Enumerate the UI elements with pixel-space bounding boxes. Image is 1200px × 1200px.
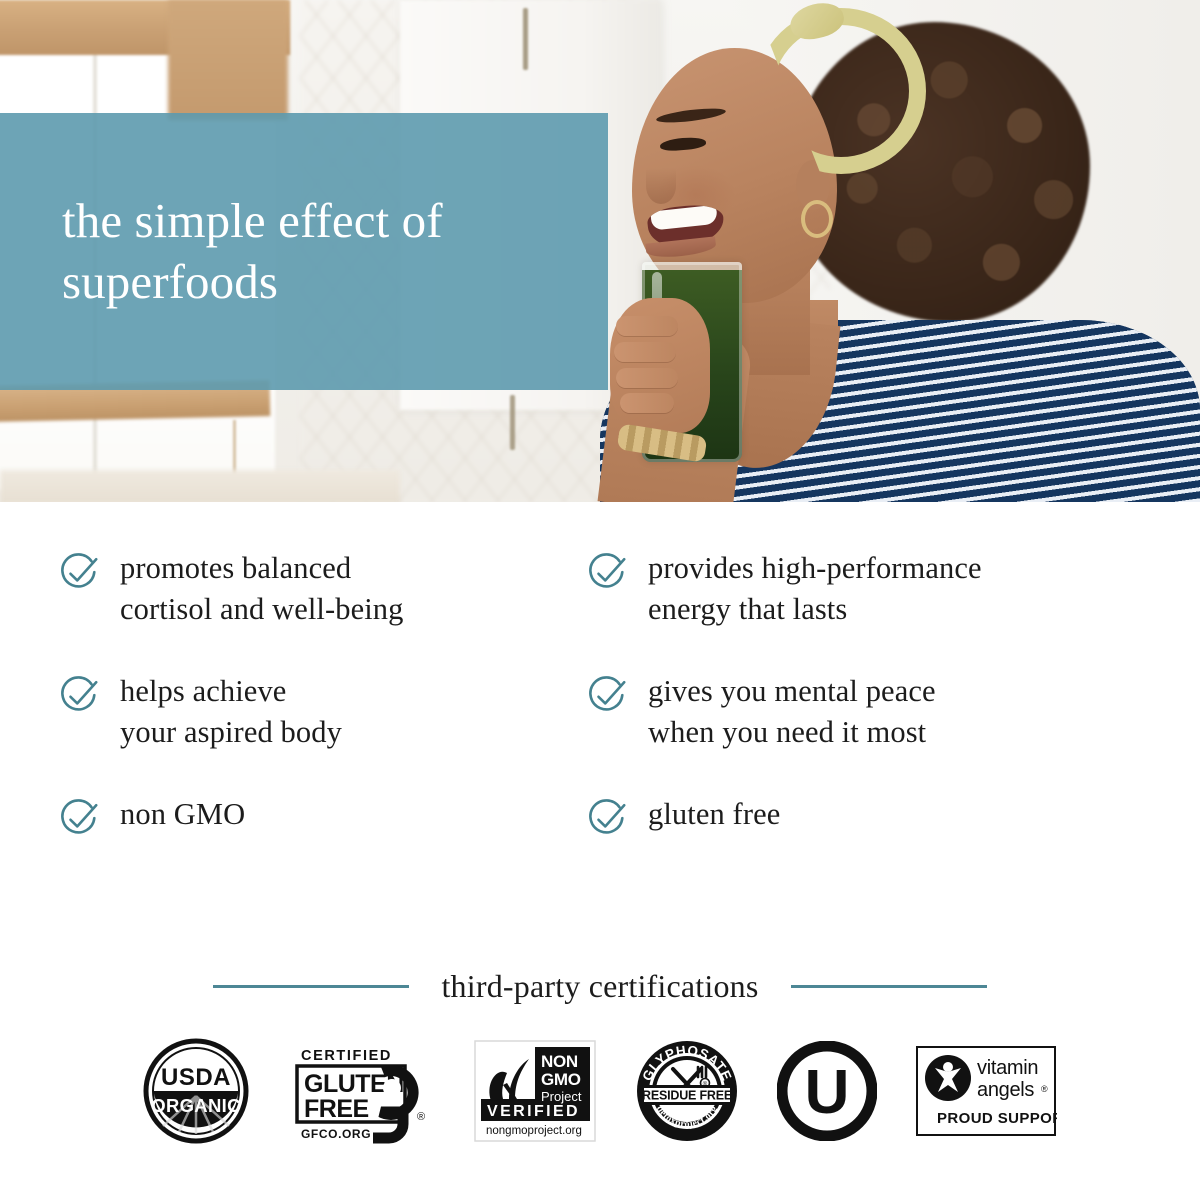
nose [646,168,676,204]
benefit-item-non-gmo: non GMO [58,794,586,845]
vitamin-angels-badge: vitamin angels ® PROUD SUPPORTER [915,1045,1057,1142]
benefit-label: provides high-performance energy that la… [648,548,982,629]
gf-line2: FREE [304,1095,369,1123]
counter-top [0,470,400,502]
benefit-item-mental: gives you mental peace when you need it … [586,671,1158,752]
certification-badges: USDA ORGANIC CERTIFIED GLUTEN FREE ® GFC… [0,1038,1200,1149]
benefit-item-gluten-free: gluten free [586,794,1158,845]
va-registered: ® [1041,1084,1048,1094]
benefit-label: non GMO [120,794,245,835]
check-circle-icon [58,675,100,722]
benefits-list: promotes balanced cortisol and well-bein… [0,548,1200,845]
divider-left [213,985,409,988]
check-circle-icon [586,798,628,845]
nongmo-url: nongmoproject.org [486,1125,582,1137]
check-circle-icon [586,552,628,599]
headline-panel: the simple effect of superfoods [0,113,608,390]
nongmo-line1: NON [541,1052,578,1071]
certified-gluten-free-badge: CERTIFIED GLUTEN FREE ® GFCO.ORG [287,1038,435,1149]
woven-shade-top-right [168,0,288,120]
gf-registered: ® [417,1111,425,1123]
va-tagline: PROUD SUPPORTER [937,1110,1057,1127]
woman-figure [560,0,1200,502]
va-line2: angels [977,1079,1034,1101]
check-circle-icon [586,675,628,722]
benefit-item-body: helps achieve your aspired body [58,671,586,752]
glyphosate-residue-free-badge: ® RESIDUE FREE GLYPHOSATE detoxproject.o… [635,1039,739,1148]
non-gmo-project-verified-badge: NON GMO Project VERIFIED nongmoproject.o… [473,1039,597,1148]
finger [616,368,678,388]
finger [614,342,676,362]
ou-kosher-badge: U [777,1041,877,1146]
divider-right [791,985,987,988]
cabinet-handle-lower-icon [510,395,515,450]
usda-line1: USDA [161,1064,231,1091]
benefit-item-energy: provides high-performance energy that la… [586,548,1158,629]
certifications-heading-row: third-party certifications [0,968,1200,1005]
benefit-label: gives you mental peace when you need it … [648,671,936,752]
nongmo-verified: VERIFIED [487,1103,580,1120]
glyphosate-band: RESIDUE FREE [642,1089,732,1103]
va-line1: vitamin [977,1057,1038,1079]
nongmo-line3: Project [541,1089,582,1104]
benefit-label: promotes balanced cortisol and well-bein… [120,548,404,629]
nongmo-line2: GMO [541,1070,581,1089]
benefit-item-cortisol: promotes balanced cortisol and well-bein… [58,548,586,629]
hoop-earring-icon [801,200,833,238]
benefit-label: gluten free [648,794,780,835]
check-circle-icon [58,798,100,845]
finger [620,393,674,413]
ou-letter: U [805,1058,850,1127]
gf-certified-label: CERTIFIED [301,1048,392,1064]
check-circle-icon [58,552,100,599]
gf-url: GFCO.ORG [301,1127,371,1141]
usda-organic-badge: USDA ORGANIC [143,1038,249,1149]
benefit-label: helps achieve your aspired body [120,671,342,752]
certifications-heading: third-party certifications [441,968,758,1005]
finger [616,316,678,336]
usda-line2: ORGANIC [151,1095,240,1116]
cabinet-handle-icon [523,8,528,70]
page-title: the simple effect of superfoods [0,191,608,313]
